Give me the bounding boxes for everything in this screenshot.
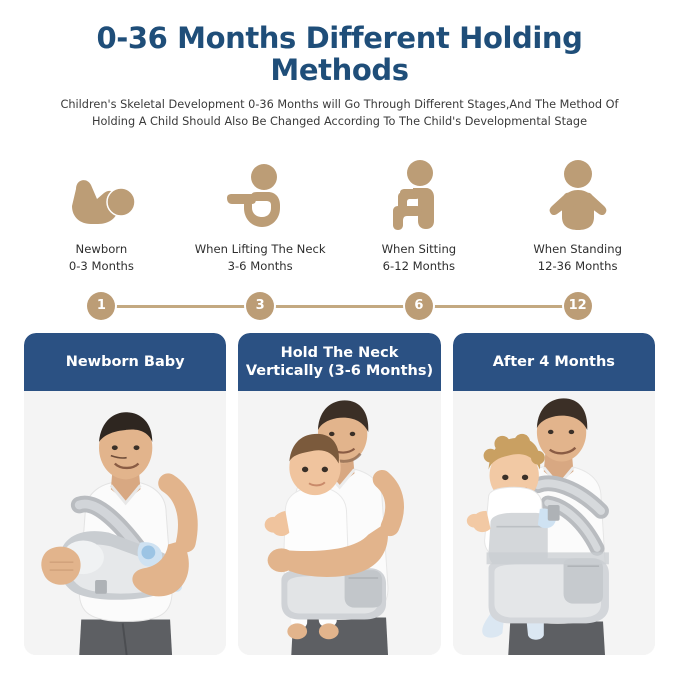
stage-label: When Sitting: [382, 242, 457, 256]
stage-caption: Newborn 0-3 Months: [69, 241, 134, 275]
page-subtitle: Children's Skeletal Development 0-36 Mon…: [40, 96, 640, 131]
stage-sitting: When Sitting 6-12 Months: [340, 159, 499, 275]
page-title: 0-36 Months Different Holding Methods: [28, 22, 651, 87]
man-holding-baby-upright-on-hip-seat: [238, 391, 440, 655]
card-header: After 4 Months: [453, 333, 655, 391]
stage-caption: When Standing 12-36 Months: [533, 241, 622, 275]
stage-label: When Standing: [533, 242, 622, 256]
card-title-line1: After 4 Months: [459, 354, 649, 372]
man-carrying-toddler-front-facing-carrier: [453, 391, 655, 655]
card-header: Newborn Baby: [24, 333, 226, 391]
stage-age: 6-12 Months: [382, 258, 457, 275]
baby-lifting-neck-icon: [222, 159, 298, 231]
card-header: Hold The Neck Vertically (3-6 Months): [238, 333, 440, 391]
timeline-marker-6: 6: [405, 292, 433, 320]
man-cradling-newborn-in-carrier: [24, 391, 226, 655]
stage-age: 0-3 Months: [69, 258, 134, 275]
stage-standing: When Standing 12-36 Months: [498, 159, 657, 275]
timeline-marker-cell: 3: [181, 285, 340, 320]
timeline-markers: 1 3 6 12: [22, 285, 657, 320]
timeline-marker-cell: 12: [498, 285, 657, 320]
stage-age: 12-36 Months: [533, 258, 622, 275]
development-stages: Newborn 0-3 Months When Lifting The Neck…: [0, 159, 679, 275]
card-after-4-months: After 4 Months: [453, 333, 655, 655]
stage-newborn: Newborn 0-3 Months: [22, 159, 181, 275]
holding-method-cards: Newborn Baby: [24, 333, 655, 655]
timeline-marker-3: 3: [246, 292, 274, 320]
stage-caption: When Sitting 6-12 Months: [382, 241, 457, 275]
stage-caption: When Lifting The Neck 3-6 Months: [195, 241, 326, 275]
stage-lifting-neck: When Lifting The Neck 3-6 Months: [181, 159, 340, 275]
card-newborn-baby: Newborn Baby: [24, 333, 226, 655]
stage-label: Newborn: [76, 242, 128, 256]
stage-label: When Lifting The Neck: [195, 242, 326, 256]
infographic-header: 0-36 Months Different Holding Methods Ch…: [0, 0, 679, 131]
timeline-marker-12: 12: [564, 292, 592, 320]
card-title-line1: Hold The Neck: [244, 345, 434, 363]
age-timeline: 1 3 6 12: [22, 285, 657, 327]
card-title-line1: Newborn Baby: [30, 354, 220, 372]
card-title-line2: Vertically (3-6 Months): [244, 363, 434, 381]
timeline-marker-cell: 1: [22, 285, 181, 320]
timeline-marker-1: 1: [87, 292, 115, 320]
timeline-marker-cell: 6: [340, 285, 499, 320]
stage-age: 3-6 Months: [195, 258, 326, 275]
baby-lying-icon: [63, 159, 139, 231]
baby-sitting-icon: [386, 159, 452, 231]
baby-standing-icon: [542, 159, 614, 231]
card-hold-neck-vertically: Hold The Neck Vertically (3-6 Months): [238, 333, 440, 655]
